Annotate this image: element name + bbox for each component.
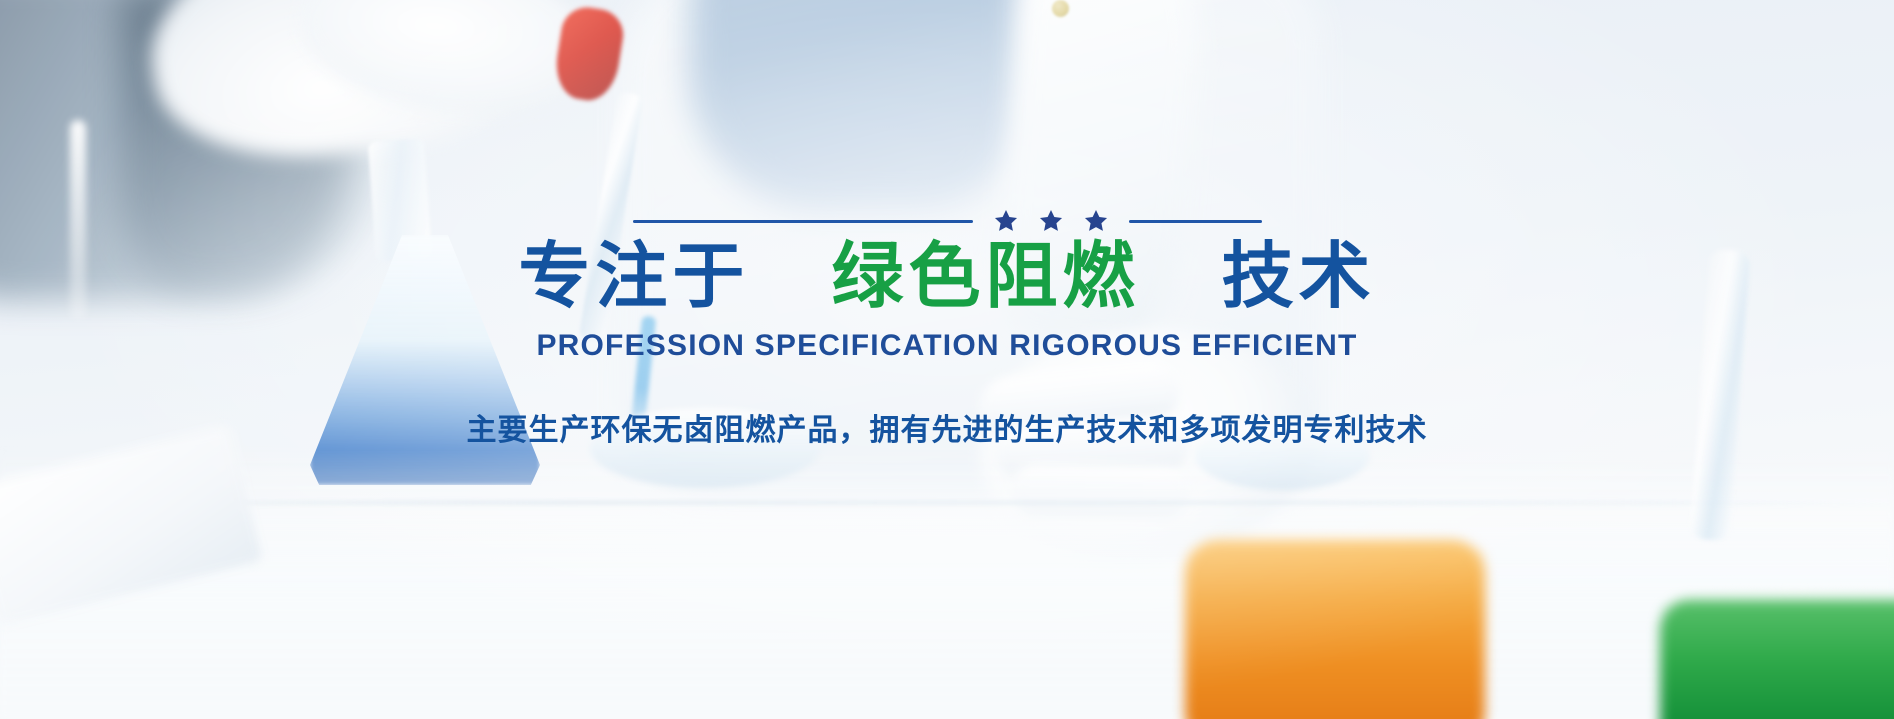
subtitle-english: PROFESSION SPECIFICATION RIGOROUS EFFICI… bbox=[536, 329, 1357, 363]
star-icon bbox=[1038, 208, 1064, 234]
star-icon bbox=[1083, 208, 1109, 234]
tagline-chinese: 主要生产环保无卤阻燃产品，拥有先进的生产技术和多项发明专利技术 bbox=[467, 405, 1428, 449]
headline: 专注于 绿色阻燃 技术 bbox=[518, 240, 1375, 313]
headline-part-2: 绿色阻燃 bbox=[831, 234, 1139, 318]
star-icon bbox=[993, 208, 1019, 234]
star-group bbox=[993, 208, 1109, 234]
divider-line-left bbox=[633, 220, 973, 223]
headline-part-3: 技术 bbox=[1222, 234, 1376, 318]
hero-banner: 专注于 绿色阻燃 技术 PROFESSION SPECIFICATION RIG… bbox=[0, 0, 1894, 719]
divider-line-right bbox=[1129, 220, 1262, 223]
banner-content: 专注于 绿色阻燃 技术 PROFESSION SPECIFICATION RIG… bbox=[0, 0, 1894, 719]
star-divider bbox=[633, 208, 1262, 234]
headline-part-1: 专注于 bbox=[518, 234, 749, 318]
